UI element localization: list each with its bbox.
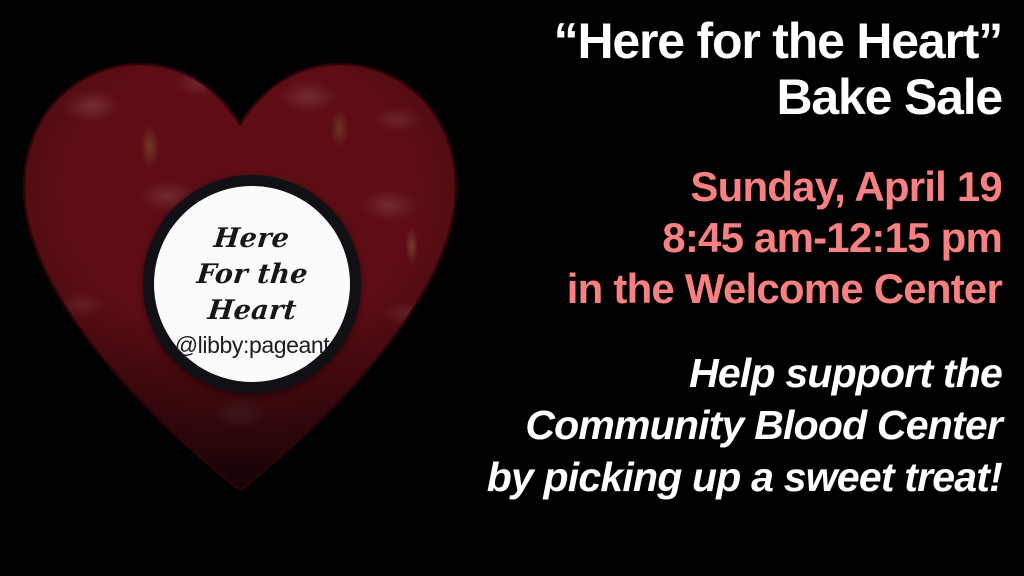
logo-script-line-3: Heart — [206, 297, 297, 324]
headline-line-1: “Here for the Heart” — [402, 14, 1002, 70]
support-line-3: by picking up a sweet treat! — [402, 451, 1002, 503]
headline-block: “Here for the Heart” Bake Sale — [402, 14, 1002, 125]
circular-logo-badge: Here For the Heart @libby:pageant — [143, 175, 361, 393]
support-line-2: Community Blood Center — [402, 399, 1002, 451]
event-location: in the Welcome Center — [402, 263, 1002, 314]
event-details-block: Sunday, April 19 8:45 am-12:15 pm in the… — [402, 161, 1002, 315]
flyer-canvas: Here For the Heart @libby:pageant “Here … — [0, 0, 1024, 576]
event-date: Sunday, April 19 — [402, 161, 1002, 212]
logo-social-handle: @libby:pageant — [175, 332, 330, 359]
text-column: “Here for the Heart” Bake Sale Sunday, A… — [402, 0, 1002, 576]
logo-script-line-1: Here — [213, 225, 291, 252]
headline-line-2: Bake Sale — [402, 70, 1002, 126]
rose-heart-graphic: Here For the Heart @libby:pageant — [14, 38, 466, 490]
event-time: 8:45 am-12:15 pm — [402, 212, 1002, 263]
logo-script-line-2: For the — [195, 261, 309, 288]
logo-face: Here For the Heart @libby:pageant — [154, 186, 350, 382]
support-message-block: Help support the Community Blood Center … — [402, 347, 1002, 503]
support-line-1: Help support the — [402, 347, 1002, 399]
